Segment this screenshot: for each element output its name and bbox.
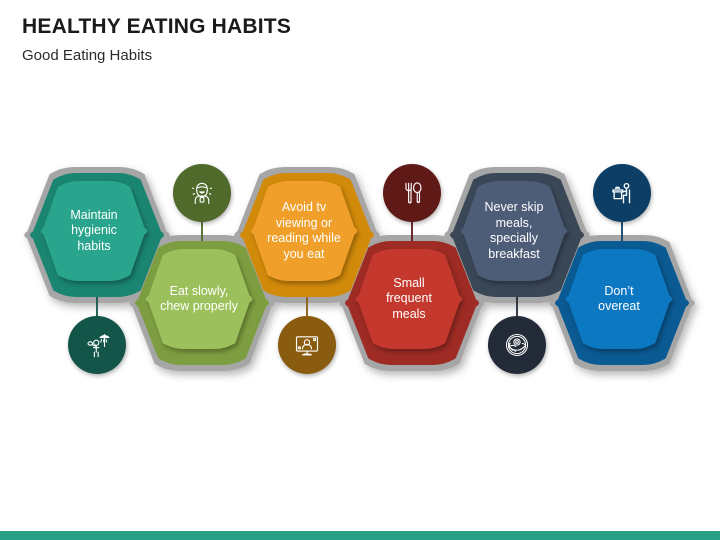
person-at-table-icon-glyph <box>607 178 637 208</box>
icon-badges <box>0 110 720 430</box>
bottom-accent-bar <box>0 531 720 540</box>
page-subtitle: Good Eating Habits <box>22 46 692 66</box>
fork-spoon-icon[interactable] <box>383 164 441 222</box>
person-eating-icon-glyph <box>187 178 217 208</box>
header: HEALTHY EATING HABITS Good Eating Habits <box>22 14 692 66</box>
person-shower-icon-glyph <box>82 330 112 360</box>
meal-plate-icon[interactable] <box>488 316 546 374</box>
page-title: HEALTHY EATING HABITS <box>22 14 692 40</box>
person-eating-icon[interactable] <box>173 164 231 222</box>
person-at-table-icon[interactable] <box>593 164 651 222</box>
fork-spoon-icon-glyph <box>397 178 427 208</box>
television-icon[interactable] <box>278 316 336 374</box>
meal-plate-icon-glyph <box>502 330 532 360</box>
television-icon-glyph <box>292 330 322 360</box>
person-shower-icon[interactable] <box>68 316 126 374</box>
hexagon-chain-infographic: Maintain hygienic habitsEat slowly, chew… <box>0 110 720 430</box>
